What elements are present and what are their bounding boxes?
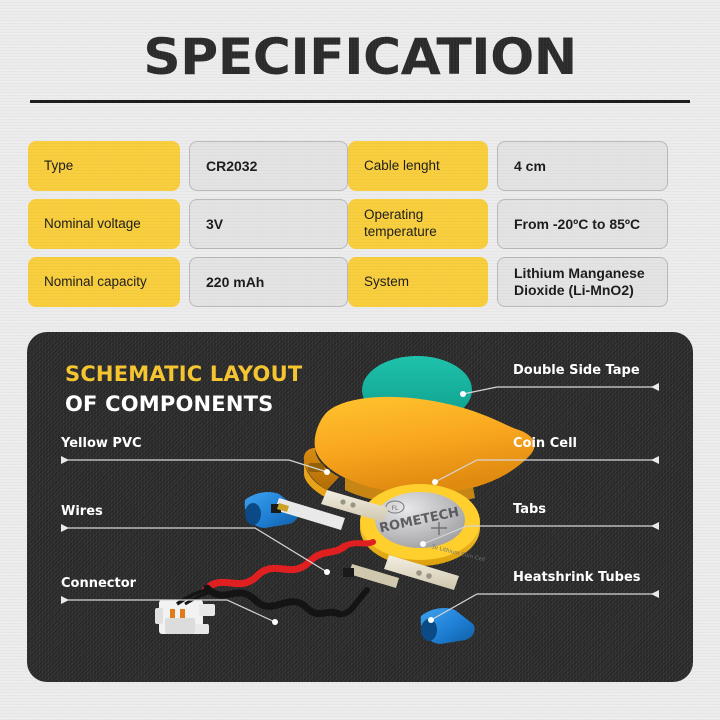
table-row: Operating temperature From -20ºC to 85ºC <box>348 199 668 249</box>
schematic-panel: SCHEMATIC LAYOUT OF COMPONENTS <box>27 332 693 682</box>
table-row: Nominal capacity 220 mAh <box>28 257 348 307</box>
spec-value-nominal-capacity: 220 mAh <box>189 257 348 307</box>
table-row: System Lithium Manganese Dioxide (Li-MnO… <box>348 257 668 307</box>
page-title: SPECIFICATION <box>0 28 720 86</box>
spec-value-system: Lithium Manganese Dioxide (Li-MnO2) <box>497 257 668 307</box>
spec-key-type: Type <box>28 141 180 191</box>
callout-label-tabs: Tabs <box>513 502 546 517</box>
spec-value-type: CR2032 <box>189 141 348 191</box>
spec-value-operating-temperature: From -20ºC to 85ºC <box>497 199 668 249</box>
spec-key-cable-length: Cable lenght <box>348 141 488 191</box>
callout-label-heatshrink-tubes: Heatshrink Tubes <box>513 570 641 585</box>
spec-key-nominal-voltage: Nominal voltage <box>28 199 180 249</box>
spec-key-nominal-capacity: Nominal capacity <box>28 257 180 307</box>
callout-label-coin-cell: Coin Cell <box>513 436 577 451</box>
callout-label-connector: Connector <box>61 576 136 591</box>
title-divider <box>30 100 690 103</box>
callout-label-yellow-pvc: Yellow PVC <box>61 436 142 451</box>
schematic-heading: SCHEMATIC LAYOUT OF COMPONENTS <box>65 362 302 416</box>
schematic-heading-line1: SCHEMATIC LAYOUT <box>65 362 302 386</box>
spec-key-operating-temperature: Operating temperature <box>348 199 488 249</box>
spec-column-right: Cable lenght 4 cm Operating temperature … <box>348 141 668 315</box>
schematic-heading-line2: OF COMPONENTS <box>65 392 302 416</box>
spec-column-left: Type CR2032 Nominal voltage 3V Nominal c… <box>28 141 348 315</box>
table-row: Type CR2032 <box>28 141 348 191</box>
spec-value-nominal-voltage: 3V <box>189 199 348 249</box>
callout-label-wires: Wires <box>61 504 103 519</box>
table-row: Nominal voltage 3V <box>28 199 348 249</box>
table-row: Cable lenght 4 cm <box>348 141 668 191</box>
callout-label-double-side-tape: Double Side Tape <box>513 363 640 378</box>
spec-value-cable-length: 4 cm <box>497 141 668 191</box>
spec-key-system: System <box>348 257 488 307</box>
